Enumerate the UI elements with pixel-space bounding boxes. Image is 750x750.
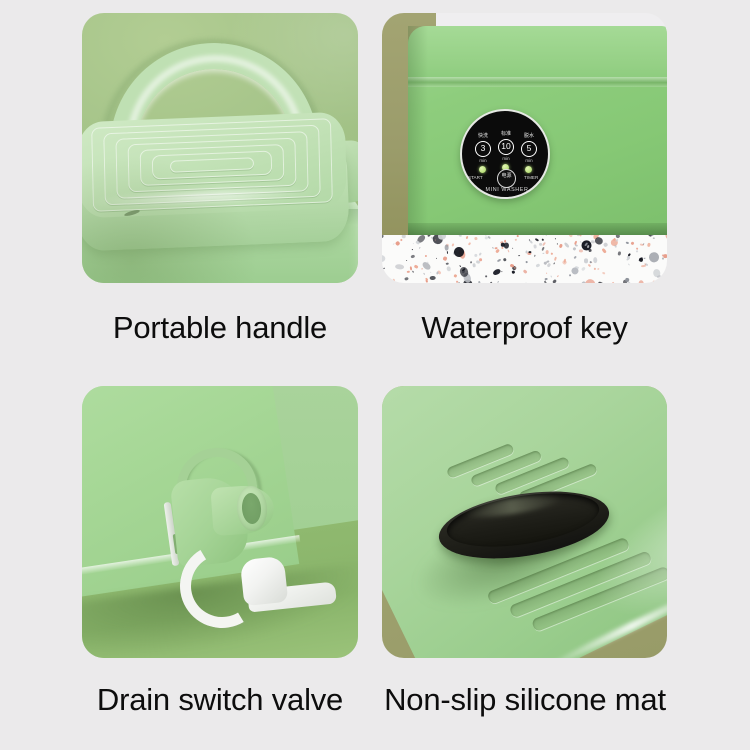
terrazzo-speck bbox=[554, 256, 558, 261]
terrazzo-speck bbox=[474, 237, 477, 240]
terrazzo-speck bbox=[395, 264, 404, 270]
terrazzo-speck bbox=[447, 251, 449, 254]
dial-button-1-top-label: 快洗 bbox=[472, 133, 494, 139]
terrazzo-speck bbox=[407, 282, 410, 283]
terrazzo-speck bbox=[517, 235, 520, 237]
terrazzo-speck bbox=[546, 250, 549, 255]
terrazzo-speck bbox=[412, 249, 413, 250]
terrazzo-speck bbox=[392, 278, 395, 282]
panel-non-slip-silicone-mat[interactable] bbox=[382, 386, 667, 658]
terrazzo-speck bbox=[466, 236, 469, 239]
terrazzo-speck bbox=[546, 272, 548, 273]
dial-power-label: 电源 bbox=[501, 173, 511, 179]
terrazzo-speck bbox=[557, 275, 559, 277]
terrazzo-speck bbox=[435, 240, 436, 241]
terrazzo-speck bbox=[628, 253, 631, 256]
terrazzo-speck bbox=[406, 260, 407, 262]
terrazzo-speck bbox=[611, 282, 614, 283]
terrazzo-speck bbox=[559, 243, 563, 248]
terrazzo-speck bbox=[539, 243, 542, 246]
terrazzo-speck bbox=[497, 258, 502, 262]
terrazzo-speck bbox=[653, 280, 655, 281]
caption-drain-switch-valve: Drain switch valve bbox=[78, 681, 362, 719]
terrazzo-speck bbox=[452, 243, 455, 246]
terrazzo-speck bbox=[436, 257, 437, 258]
terrazzo-speck bbox=[507, 249, 509, 252]
terrazzo-speck bbox=[503, 258, 507, 262]
terrazzo-speck bbox=[505, 243, 510, 249]
terrazzo-speck bbox=[626, 242, 630, 245]
dial-button-5min[interactable]: 5 bbox=[521, 141, 537, 157]
terrazzo-speck bbox=[602, 248, 607, 253]
terrazzo-speck bbox=[395, 241, 400, 246]
terrazzo-speck bbox=[630, 241, 634, 245]
terrazzo-speck bbox=[382, 255, 385, 262]
terrazzo-speck bbox=[649, 252, 660, 263]
terrazzo-speck bbox=[496, 248, 501, 253]
terrazzo-speck bbox=[475, 260, 479, 264]
terrazzo-speck bbox=[467, 242, 471, 246]
terrazzo-speck bbox=[528, 251, 531, 253]
terrazzo-speck bbox=[593, 257, 597, 264]
terrazzo-speck bbox=[509, 263, 513, 267]
terrazzo-speck bbox=[594, 267, 596, 269]
terrazzo-speck bbox=[648, 243, 652, 248]
terrazzo-speck bbox=[547, 262, 551, 267]
caption-waterproof-key: Waterproof key bbox=[382, 309, 667, 347]
terrazzo-speck bbox=[490, 281, 493, 283]
terrazzo-speck bbox=[579, 249, 583, 252]
terrazzo-speck bbox=[653, 237, 655, 238]
terrazzo-speck bbox=[430, 276, 436, 280]
terrazzo-speck bbox=[663, 275, 667, 279]
terrazzo-speck bbox=[472, 264, 474, 266]
terrazzo-speck bbox=[568, 235, 572, 237]
terrazzo-speck bbox=[564, 241, 570, 247]
caption-non-slip-silicone-mat: Non-slip silicone mat bbox=[362, 681, 688, 719]
terrazzo-speck bbox=[407, 271, 410, 273]
terrazzo-speck bbox=[550, 276, 552, 278]
terrazzo-speck bbox=[382, 235, 384, 238]
terrazzo-speck bbox=[485, 275, 487, 277]
terrazzo-speck bbox=[481, 282, 485, 283]
terrazzo-speck bbox=[401, 239, 403, 241]
dial-button-3min[interactable]: 3 bbox=[475, 141, 491, 157]
terrazzo-speck bbox=[412, 243, 414, 244]
terrazzo-speck bbox=[551, 253, 553, 255]
terrazzo-speck bbox=[602, 272, 606, 275]
terrazzo-speck bbox=[534, 255, 536, 257]
terrazzo-speck bbox=[454, 274, 458, 278]
terrazzo-speck bbox=[598, 281, 604, 283]
terrazzo-speck bbox=[443, 256, 448, 261]
dial-button-2-unit: min bbox=[495, 156, 517, 161]
terrazzo-speck bbox=[552, 278, 557, 283]
terrazzo-speck bbox=[463, 279, 464, 280]
terrazzo-speck bbox=[470, 261, 472, 263]
terrazzo-speck bbox=[663, 254, 667, 258]
terrazzo-speck bbox=[512, 247, 513, 248]
terrazzo-speck bbox=[627, 282, 630, 283]
terrazzo-speck bbox=[529, 240, 534, 245]
terrazzo-speck bbox=[488, 236, 491, 239]
body-left-shading bbox=[408, 26, 428, 238]
dial-led-1 bbox=[479, 166, 486, 173]
terrazzo-speck bbox=[663, 280, 667, 283]
terrazzo-speck bbox=[425, 255, 427, 257]
terrazzo-speck bbox=[569, 274, 571, 277]
terrazzo-speck bbox=[643, 258, 645, 259]
terrazzo-speck bbox=[412, 271, 413, 273]
terrazzo-speck bbox=[542, 238, 545, 241]
panel-vignette bbox=[82, 13, 358, 283]
terrazzo-speck bbox=[626, 257, 631, 261]
terrazzo-speck bbox=[657, 275, 661, 278]
terrazzo-speck bbox=[445, 245, 449, 251]
dial-button-10min[interactable]: 10 bbox=[498, 139, 514, 155]
product-feature-collage: Portable handle 快洗 3 min 标准 10 min 脱水 5 … bbox=[0, 0, 750, 750]
terrazzo-speck bbox=[562, 260, 567, 265]
terrazzo-speck bbox=[536, 264, 541, 268]
terrazzo-speck bbox=[436, 271, 439, 274]
terrazzo-speck bbox=[515, 239, 518, 241]
terrazzo-speck bbox=[501, 247, 503, 249]
dial-brand-text: MINI WASHER bbox=[462, 187, 552, 193]
terrazzo-speck bbox=[534, 238, 539, 242]
terrazzo-speck bbox=[523, 269, 528, 274]
terrazzo-speck bbox=[553, 262, 555, 264]
terrazzo-speck bbox=[665, 235, 667, 241]
terrazzo-speck bbox=[501, 242, 505, 247]
terrazzo-speck bbox=[540, 235, 545, 236]
dial-button-1-unit: min bbox=[472, 158, 494, 163]
terrazzo-speck bbox=[446, 262, 449, 264]
white-stopper-plug[interactable] bbox=[240, 556, 289, 606]
machine-lid bbox=[408, 26, 667, 82]
terrazzo-speck bbox=[639, 244, 643, 247]
terrazzo-speck bbox=[430, 271, 431, 272]
terrazzo-speck bbox=[555, 239, 556, 240]
lid-seam-line bbox=[408, 77, 667, 87]
terrazzo-speck bbox=[518, 255, 520, 256]
dial-start-label: START bbox=[468, 175, 483, 181]
terrazzo-speck bbox=[501, 271, 503, 273]
terrazzo-speck bbox=[478, 281, 480, 283]
dial-power-button[interactable]: 电源 bbox=[497, 169, 516, 188]
terrazzo-speck bbox=[628, 263, 630, 265]
dial-button-3-unit: min bbox=[518, 158, 540, 163]
terrazzo-speck bbox=[574, 255, 577, 258]
terrazzo-speck bbox=[580, 266, 585, 271]
terrazzo-speck bbox=[541, 247, 545, 252]
dial-timer-label: TIMER bbox=[524, 175, 538, 181]
terrazzo-speck bbox=[479, 253, 482, 256]
terrazzo-countertop bbox=[382, 235, 667, 283]
terrazzo-speck bbox=[418, 246, 420, 248]
waterproof-control-panel[interactable]: 快洗 3 min 标准 10 min 脱水 5 min START 电源 TIM… bbox=[460, 109, 550, 199]
terrazzo-speck bbox=[456, 280, 458, 282]
terrazzo-speck bbox=[446, 266, 451, 272]
terrazzo-speck bbox=[625, 277, 630, 281]
terrazzo-speck bbox=[661, 258, 663, 260]
terrazzo-speck bbox=[580, 235, 582, 236]
terrazzo-speck bbox=[545, 282, 547, 283]
terrazzo-speck bbox=[639, 280, 644, 283]
terrazzo-speck bbox=[382, 282, 385, 283]
terrazzo-speck bbox=[384, 277, 387, 279]
terrazzo-speck bbox=[618, 251, 621, 255]
terrazzo-speck bbox=[411, 255, 416, 259]
terrazzo-speck bbox=[525, 261, 527, 263]
terrazzo-speck bbox=[492, 247, 494, 249]
terrazzo-speck bbox=[511, 270, 514, 273]
panel-drain-switch-valve[interactable] bbox=[82, 386, 358, 658]
terrazzo-speck bbox=[401, 235, 405, 238]
terrazzo-speck bbox=[584, 258, 588, 263]
terrazzo-speck bbox=[597, 268, 599, 270]
terrazzo-speck bbox=[603, 242, 608, 247]
terrazzo-speck bbox=[383, 267, 385, 269]
terrazzo-speck bbox=[413, 265, 418, 270]
terrazzo-speck bbox=[492, 268, 501, 276]
terrazzo-speck bbox=[421, 268, 423, 270]
caption-portable-handle: Portable handle bbox=[82, 309, 358, 347]
terrazzo-speck bbox=[474, 253, 477, 256]
terrazzo-speck bbox=[458, 235, 461, 237]
terrazzo-speck bbox=[497, 281, 499, 283]
terrazzo-speck bbox=[427, 261, 429, 263]
panel-waterproof-key[interactable]: 快洗 3 min 标准 10 min 脱水 5 min START 电源 TIM… bbox=[382, 13, 667, 283]
terrazzo-speck bbox=[636, 250, 639, 253]
panel-portable-handle[interactable] bbox=[82, 13, 358, 283]
terrazzo-speck bbox=[423, 273, 425, 275]
terrazzo-speck bbox=[588, 264, 591, 267]
dial-button-2-top-label: 标准 bbox=[495, 131, 517, 137]
terrazzo-speck bbox=[533, 244, 537, 249]
terrazzo-speck bbox=[573, 247, 577, 251]
terrazzo-speck bbox=[557, 243, 558, 244]
terrazzo-speck bbox=[543, 252, 545, 253]
dial-led-3 bbox=[525, 166, 532, 173]
terrazzo-speck bbox=[484, 236, 487, 239]
dial-button-3-top-label: 脱水 bbox=[518, 133, 540, 139]
terrazzo-speck bbox=[403, 277, 408, 281]
terrazzo-speck bbox=[410, 266, 413, 270]
